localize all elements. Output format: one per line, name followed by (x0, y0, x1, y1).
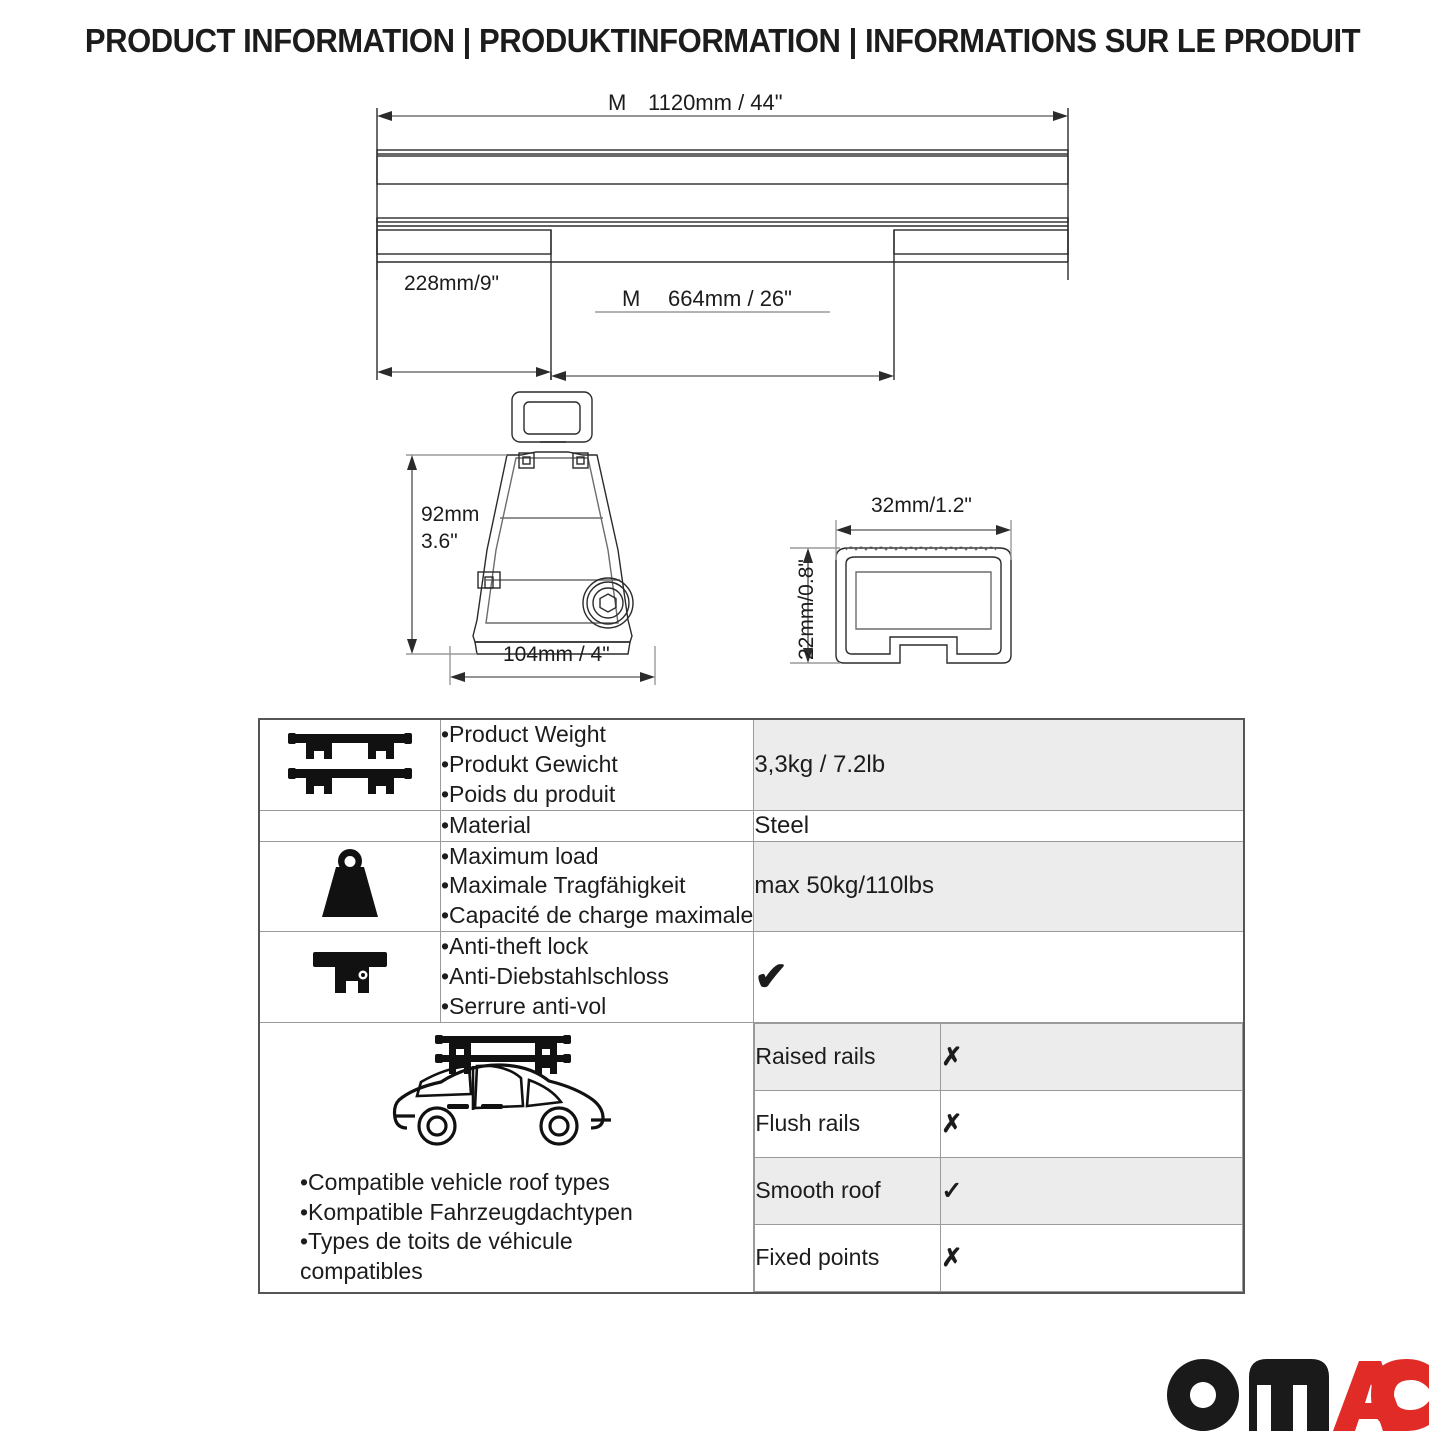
label-line: compatibles (300, 1257, 753, 1287)
row-label-material: •Material (441, 810, 754, 841)
dimension-label-profile-width: 32mm/1.2" (871, 494, 972, 518)
dimension-label-span-prefix: M (622, 286, 640, 312)
label-line: •Serrure anti-vol (441, 992, 753, 1022)
roof-type-mark: ✗ (941, 1023, 1243, 1090)
material-icon-cell (259, 810, 441, 841)
label-line: •Material (441, 811, 753, 841)
dimension-label-end-offset: 228mm/9" (404, 272, 499, 296)
dimension-label-bar-length-prefix: M (608, 90, 626, 116)
table-row-roof-types: •Compatible vehicle roof types •Kompatib… (259, 1022, 1244, 1293)
dimension-label-span: 664mm / 26" (668, 286, 792, 312)
crossbars-icon-cell (259, 719, 441, 810)
roof-types-description-cell: •Compatible vehicle roof types •Kompatib… (259, 1022, 754, 1293)
dimension-label-profile-height: 22mm/0.8" (795, 559, 819, 660)
roof-types-matrix-cell: Raised rails ✗ Flush rails ✗ Smooth roof… (754, 1022, 1244, 1293)
roof-type-label: Flush rails (755, 1090, 941, 1157)
omac-logo-svg (1163, 1355, 1431, 1435)
row-value-material: Steel (754, 810, 1244, 841)
roof-type-mark: ✗ (941, 1090, 1243, 1157)
roof-type-row: Smooth roof ✓ (755, 1157, 1243, 1224)
row-value-product-weight: 3,3kg / 7.2lb (754, 719, 1244, 810)
dimension-label-foot-height-in: 3.6" (421, 530, 458, 554)
label-line: •Kompatible Fahrzeugdachtypen (300, 1198, 753, 1228)
row-label-maximum-load: •Maximum load •Maximale Tragfähigkeit •C… (441, 841, 754, 932)
label-line: •Product Weight (441, 720, 753, 750)
label-line: •Anti-theft lock (441, 932, 753, 962)
row-label-product-weight: •Product Weight •Produkt Gewicht •Poids … (441, 719, 754, 810)
table-row: •Material Steel (259, 810, 1244, 841)
page-title: PRODUCT INFORMATION | PRODUKTINFORMATION… (43, 22, 1401, 60)
label-line: •Capacité de charge maximale (441, 901, 753, 931)
car-with-roofbars-icon (377, 1028, 637, 1153)
specification-table: •Product Weight •Produkt Gewicht •Poids … (258, 718, 1245, 1294)
label-line: •Maximum load (441, 842, 753, 872)
lock-icon-cell (259, 932, 441, 1023)
product-information-page: PRODUCT INFORMATION | PRODUKTINFORMATION… (0, 0, 1445, 1445)
dimension-label-foot-width: 104mm / 4" (503, 643, 610, 667)
row-value-anti-theft-lock: ✔ (754, 932, 1244, 1023)
label-line: •Produkt Gewicht (441, 750, 753, 780)
roof-type-row: Fixed points ✗ (755, 1224, 1243, 1291)
label-line: •Compatible vehicle roof types (300, 1168, 753, 1198)
dimension-label-bar-length: 1120mm / 44" (648, 90, 783, 116)
roof-types-labels: •Compatible vehicle roof types •Kompatib… (260, 1168, 753, 1288)
label-line: •Types de toits de véhicule (300, 1227, 753, 1257)
table-row: •Maximum load •Maximale Tragfähigkeit •C… (259, 841, 1244, 932)
roof-type-label: Smooth roof (755, 1157, 941, 1224)
label-line: •Poids du produit (441, 780, 753, 810)
roof-type-label: Fixed points (755, 1224, 941, 1291)
omac-logo (1163, 1355, 1431, 1435)
roof-type-row: Raised rails ✗ (755, 1023, 1243, 1090)
table-row: •Anti-theft lock •Anti-Diebstahlschloss … (259, 932, 1244, 1023)
roof-type-mark: ✓ (941, 1157, 1243, 1224)
crossbars-icon (286, 726, 414, 798)
weight-icon-cell (259, 841, 441, 932)
drawing-svg (0, 80, 1445, 710)
label-line: •Anti-Diebstahlschloss (441, 962, 753, 992)
technical-drawing: M 1120mm / 44" 228mm/9" M 664mm / 26" 92… (0, 80, 1445, 710)
row-value-maximum-load: max 50kg/110lbs (754, 841, 1244, 932)
roof-type-label: Raised rails (755, 1023, 941, 1090)
roof-type-mark: ✗ (941, 1224, 1243, 1291)
lock-icon (305, 944, 395, 1006)
roof-types-table: Raised rails ✗ Flush rails ✗ Smooth roof… (754, 1023, 1243, 1292)
dimension-label-foot-height-mm: 92mm (421, 503, 479, 527)
roof-type-row: Flush rails ✗ (755, 1090, 1243, 1157)
weight-icon (314, 845, 386, 923)
table-row: •Product Weight •Produkt Gewicht •Poids … (259, 719, 1244, 810)
row-label-anti-theft-lock: •Anti-theft lock •Anti-Diebstahlschloss … (441, 932, 754, 1023)
label-line: •Maximale Tragfähigkeit (441, 871, 753, 901)
